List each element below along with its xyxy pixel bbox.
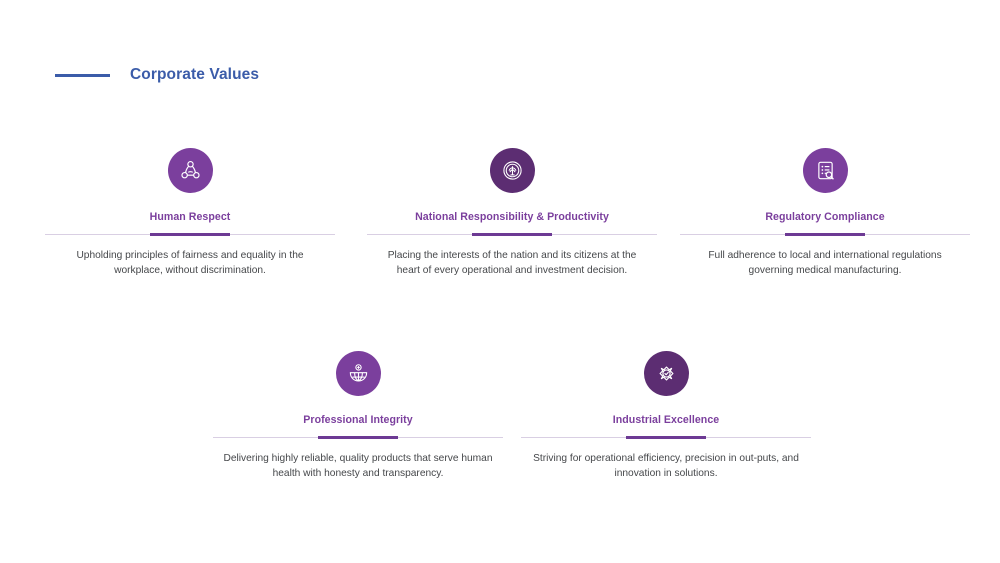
value-card-icon-circle: [168, 148, 213, 193]
divider-accent-segment: [150, 233, 230, 236]
value-card-description: Delivering highly reliable, quality prod…: [213, 452, 503, 481]
value-card-description: Full adherence to local and internationa…: [680, 249, 970, 278]
value-card-icon-circle: [336, 351, 381, 396]
value-card-description: Upholding principles of fairness and equ…: [45, 249, 335, 278]
document-audit-icon: [813, 158, 838, 183]
value-card-title: Human Respect: [45, 210, 335, 224]
divider-accent-segment: [472, 233, 552, 236]
value-card-icon-circle: [490, 148, 535, 193]
national-emblem-icon: [500, 158, 525, 183]
quality-badge-check-icon: [654, 361, 679, 386]
divider-accent-segment: [626, 436, 706, 439]
value-card-industrial-excellence[interactable]: Industrial Excellence Striving for opera…: [521, 351, 811, 481]
people-network-icon: [178, 158, 203, 183]
values-card-grid: Human Respect Upholding principles of fa…: [0, 0, 1000, 563]
value-card-divider: [45, 232, 335, 237]
value-card-human-respect[interactable]: Human Respect Upholding principles of fa…: [45, 148, 335, 278]
value-card-icon-circle: [803, 148, 848, 193]
divider-accent-segment: [785, 233, 865, 236]
value-card-title: Industrial Excellence: [521, 413, 811, 427]
value-card-description: Striving for operational efficiency, pre…: [521, 452, 811, 481]
divider-accent-segment: [318, 436, 398, 439]
value-card-divider: [680, 232, 970, 237]
value-card-title: Professional Integrity: [213, 413, 503, 427]
value-card-regulatory-compliance[interactable]: Regulatory Compliance Full adherence to …: [680, 148, 970, 278]
value-card-description: Placing the interests of the nation and …: [367, 249, 657, 278]
value-card-title: National Responsibility & Productivity: [367, 210, 657, 224]
value-card-national-responsibility-productivity[interactable]: National Responsibility & Productivity P…: [367, 148, 657, 278]
value-card-divider: [213, 435, 503, 440]
value-card-professional-integrity[interactable]: Professional Integrity Delivering highly…: [213, 351, 503, 481]
value-card-title: Regulatory Compliance: [680, 210, 970, 224]
value-card-divider: [521, 435, 811, 440]
medical-globe-icon: [346, 361, 371, 386]
value-card-divider: [367, 232, 657, 237]
value-card-icon-circle: [644, 351, 689, 396]
